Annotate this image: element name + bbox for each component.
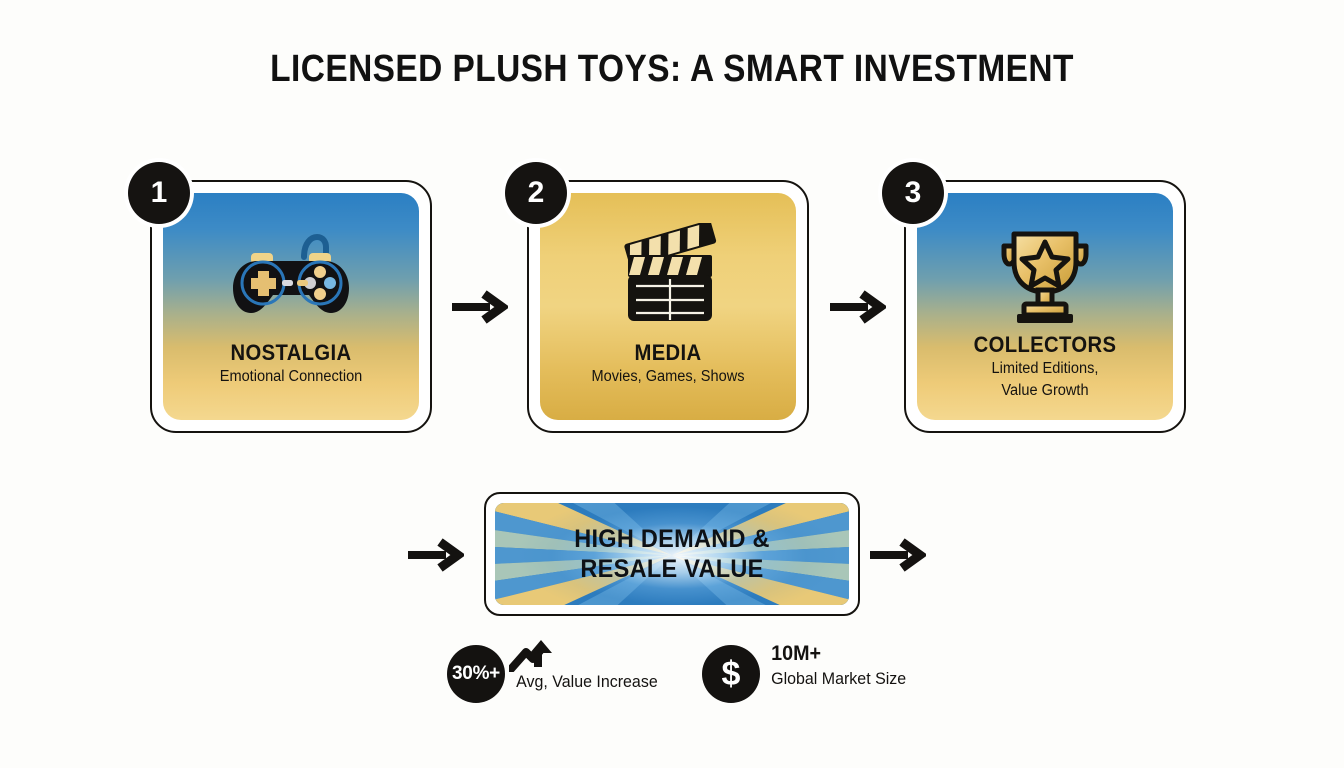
card-subtitle-line-1: Emotional Connection: [171, 368, 412, 387]
gamepad-icon: [163, 215, 419, 335]
card-subtitle-line-1: Limited Editions,: [925, 360, 1166, 379]
card-text-block: MEDIA Movies, Games, Shows: [540, 341, 796, 387]
steps-row: NOSTALGIA Emotional Connection 1: [150, 180, 1200, 440]
banner-text-block: HIGH DEMAND & RESALE VALUE: [506, 503, 839, 605]
stat-value: 10M+: [758, 642, 906, 665]
highlight-banner[interactable]: HIGH DEMAND & RESALE VALUE: [484, 492, 860, 616]
banner-panel: HIGH DEMAND & RESALE VALUE: [495, 503, 849, 605]
stat-badge: 30%+: [447, 645, 505, 703]
trophy-icon: [917, 215, 1173, 335]
card-panel: MEDIA Movies, Games, Shows: [540, 193, 796, 420]
banner-line-1: HIGH DEMAND &: [574, 524, 770, 555]
step-card-nostalgia[interactable]: NOSTALGIA Emotional Connection 1: [150, 180, 432, 433]
card-text-block: NOSTALGIA Emotional Connection: [163, 341, 419, 387]
card-panel: COLLECTORS Limited Editions, Value Growt…: [917, 193, 1173, 420]
card-frame: COLLECTORS Limited Editions, Value Growt…: [904, 180, 1186, 433]
card-title: NOSTALGIA: [173, 341, 409, 365]
card-frame: MEDIA Movies, Games, Shows: [527, 180, 809, 433]
card-frame: NOSTALGIA Emotional Connection: [150, 180, 432, 433]
dollar-sign-icon: $: [702, 645, 760, 703]
card-title: COLLECTORS: [927, 333, 1163, 357]
step-card-media[interactable]: MEDIA Movies, Games, Shows 2: [527, 180, 809, 433]
card-subtitle-line-2: Value Growth: [925, 382, 1166, 401]
banner-line-2: RESALE VALUE: [580, 554, 763, 585]
stats-row: 30%+ Avg, Value Increase $ 10M+ Global M…: [0, 642, 1344, 722]
stat-text-block: 10M+ Global Market Size: [758, 642, 916, 689]
arrow-right-icon: [870, 538, 926, 572]
card-text-block: COLLECTORS Limited Editions, Value Growt…: [917, 333, 1173, 401]
arrow-right-icon: [408, 538, 464, 572]
arrow-right-icon: [830, 290, 886, 324]
stat-label: Avg, Value Increase: [503, 672, 658, 692]
page-title: LICENSED PLUSH TOYS: A SMART INVESTMENT: [81, 48, 1264, 91]
step-badge-3: 3: [882, 162, 944, 224]
stat-label: Global Market Size: [758, 669, 906, 689]
trend-up-arrow-icon: [509, 638, 553, 672]
clapperboard-icon: [540, 215, 796, 335]
step-card-collectors[interactable]: COLLECTORS Limited Editions, Value Growt…: [904, 180, 1186, 433]
step-badge-2: 2: [505, 162, 567, 224]
card-subtitle-line-1: Movies, Games, Shows: [548, 368, 789, 387]
card-panel: NOSTALGIA Emotional Connection: [163, 193, 419, 420]
card-title: MEDIA: [550, 341, 786, 365]
arrow-right-icon: [452, 290, 508, 324]
step-badge-1: 1: [128, 162, 190, 224]
